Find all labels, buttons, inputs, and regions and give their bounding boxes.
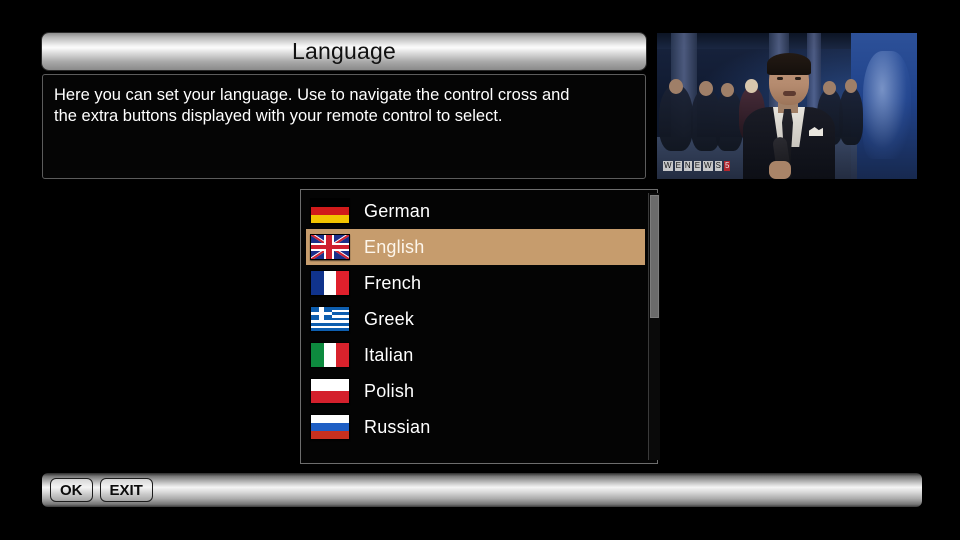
video-crowd-head bbox=[721, 83, 734, 97]
description-panel: Here you can set your language. Use to n… bbox=[42, 74, 646, 179]
scrollbar-thumb[interactable] bbox=[650, 195, 659, 318]
exit-button[interactable]: EXIT bbox=[100, 478, 153, 502]
page-title: Language bbox=[292, 38, 396, 65]
watermark-part: E bbox=[675, 161, 682, 171]
video-subject-mouth bbox=[783, 91, 796, 96]
bottom-button-bar: OK EXIT bbox=[42, 473, 922, 507]
flag-italy-icon bbox=[310, 342, 350, 368]
language-list-scrollbar[interactable] bbox=[648, 193, 660, 460]
flag-united-kingdom-icon bbox=[310, 234, 350, 260]
language-item-polish[interactable]: Polish bbox=[306, 373, 645, 409]
watermark-part: 5 bbox=[724, 161, 730, 171]
live-tv-preview[interactable]: W E N E W S 5 bbox=[657, 33, 917, 179]
language-item-label: English bbox=[364, 237, 424, 258]
video-crowd-figure bbox=[659, 85, 693, 151]
ok-button[interactable]: OK bbox=[50, 478, 93, 502]
language-item-label: Polish bbox=[364, 381, 414, 402]
video-subject-eye bbox=[777, 77, 783, 80]
watermark-part: N bbox=[684, 161, 692, 171]
language-item-label: Greek bbox=[364, 309, 414, 330]
language-item-greek[interactable]: Greek bbox=[306, 301, 645, 337]
flag-poland-icon bbox=[310, 378, 350, 404]
description-line-1: Here you can set your language. Use to n… bbox=[54, 85, 634, 106]
flag-greece-icon bbox=[310, 306, 350, 332]
video-crowd-head bbox=[669, 79, 683, 94]
description-line-2: the extra buttons displayed with your re… bbox=[54, 106, 634, 127]
language-item-french[interactable]: French bbox=[306, 265, 645, 301]
watermark-part: S bbox=[715, 161, 722, 171]
broadcaster-watermark: W E N E W S 5 bbox=[663, 159, 735, 172]
video-subject-eye bbox=[795, 77, 801, 80]
video-crowd-head bbox=[745, 79, 758, 93]
language-item-label: Russian bbox=[364, 417, 430, 438]
language-item-label: French bbox=[364, 273, 421, 294]
language-item-russian[interactable]: Russian bbox=[306, 409, 645, 445]
language-item-english[interactable]: English bbox=[306, 229, 645, 265]
video-crowd-head bbox=[823, 81, 836, 95]
video-crowd-head bbox=[699, 81, 713, 96]
language-item-italian[interactable]: Italian bbox=[306, 337, 645, 373]
video-wall-artwork bbox=[863, 51, 911, 159]
flag-germany-icon bbox=[310, 198, 350, 224]
language-item-german[interactable]: German bbox=[306, 193, 645, 229]
watermark-part: W bbox=[663, 161, 673, 171]
flag-russia-icon bbox=[310, 414, 350, 440]
language-item-label: German bbox=[364, 201, 430, 222]
video-crowd-figure bbox=[839, 87, 863, 145]
video-subject-hair bbox=[767, 53, 811, 75]
language-item-label: Italian bbox=[364, 345, 413, 366]
language-list[interactable]: German English French bbox=[306, 193, 645, 460]
title-bar: Language bbox=[42, 33, 646, 70]
video-subject-hand bbox=[769, 161, 791, 179]
flag-france-icon bbox=[310, 270, 350, 296]
watermark-part: W bbox=[703, 161, 713, 171]
language-list-panel: German English French bbox=[300, 189, 658, 464]
watermark-part: E bbox=[694, 161, 701, 171]
video-crowd-head bbox=[845, 79, 857, 93]
